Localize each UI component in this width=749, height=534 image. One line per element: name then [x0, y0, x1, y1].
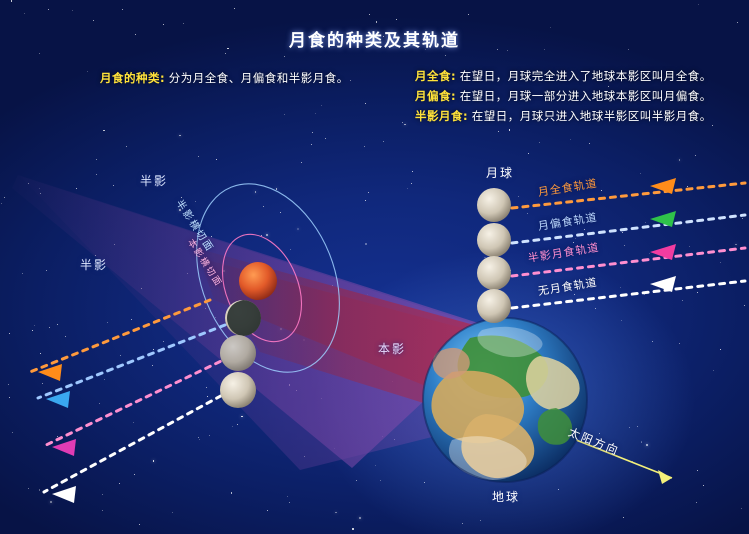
label-umbra: 本影: [378, 340, 406, 357]
label-earth: 地球: [492, 488, 520, 505]
legend-right-row-3: 半影月食: 在望日，月球只进入地球半影区叫半影月食。: [415, 108, 712, 124]
moon-penumbral-orbit: [477, 256, 511, 290]
label-penumbra-left: 半影: [80, 256, 108, 273]
moon-partial-eclipse: [225, 300, 261, 336]
legend-right: 月全食: 在望日，月球完全进入了地球本影区叫月全食。 月偏食: 在望日，月球一部…: [415, 68, 712, 128]
moon-total-orbit: [477, 188, 511, 222]
legend-right-key-1: 月全食:: [415, 69, 456, 83]
legend-left: 月食的种类: 分为月全食、月偏食和半影月食。: [100, 70, 349, 86]
legend-right-row-1: 月全食: 在望日，月球完全进入了地球本影区叫月全食。: [415, 68, 712, 84]
moon-no-eclipse-orbit: [477, 289, 511, 323]
moon-penumbral-eclipse: [220, 335, 256, 371]
legend-right-row-2: 月偏食: 在望日，月球一部分进入地球本影区叫月偏食。: [415, 88, 712, 104]
moon-full: [220, 372, 256, 408]
legend-left-key: 月食的种类:: [100, 71, 165, 85]
label-moon: 月球: [486, 164, 514, 181]
legend-right-value-1: 在望日，月球完全进入了地球本影区叫月全食。: [460, 69, 712, 83]
orbit-arrowheads-right: [650, 178, 676, 292]
diagram-canvas: 月食的种类及其轨道 月食的种类: 分为月全食、月偏食和半影月食。 月全食: 在望…: [0, 0, 749, 534]
page-title: 月食的种类及其轨道: [0, 26, 749, 51]
legend-right-value-3: 在望日，月球只进入地球半影区叫半影月食。: [472, 109, 712, 123]
moon-total-eclipse: [239, 262, 277, 300]
legend-left-value: 分为月全食、月偏食和半影月食。: [169, 71, 349, 85]
legend-right-value-2: 在望日，月球一部分进入地球本影区叫月偏食。: [460, 89, 712, 103]
legend-right-key-2: 月偏食:: [415, 89, 456, 103]
moon-partial-orbit: [477, 223, 511, 257]
earth-globe: [423, 318, 587, 482]
legend-right-key-3: 半影月食:: [415, 109, 468, 123]
label-penumbra-top: 半影: [140, 172, 168, 189]
